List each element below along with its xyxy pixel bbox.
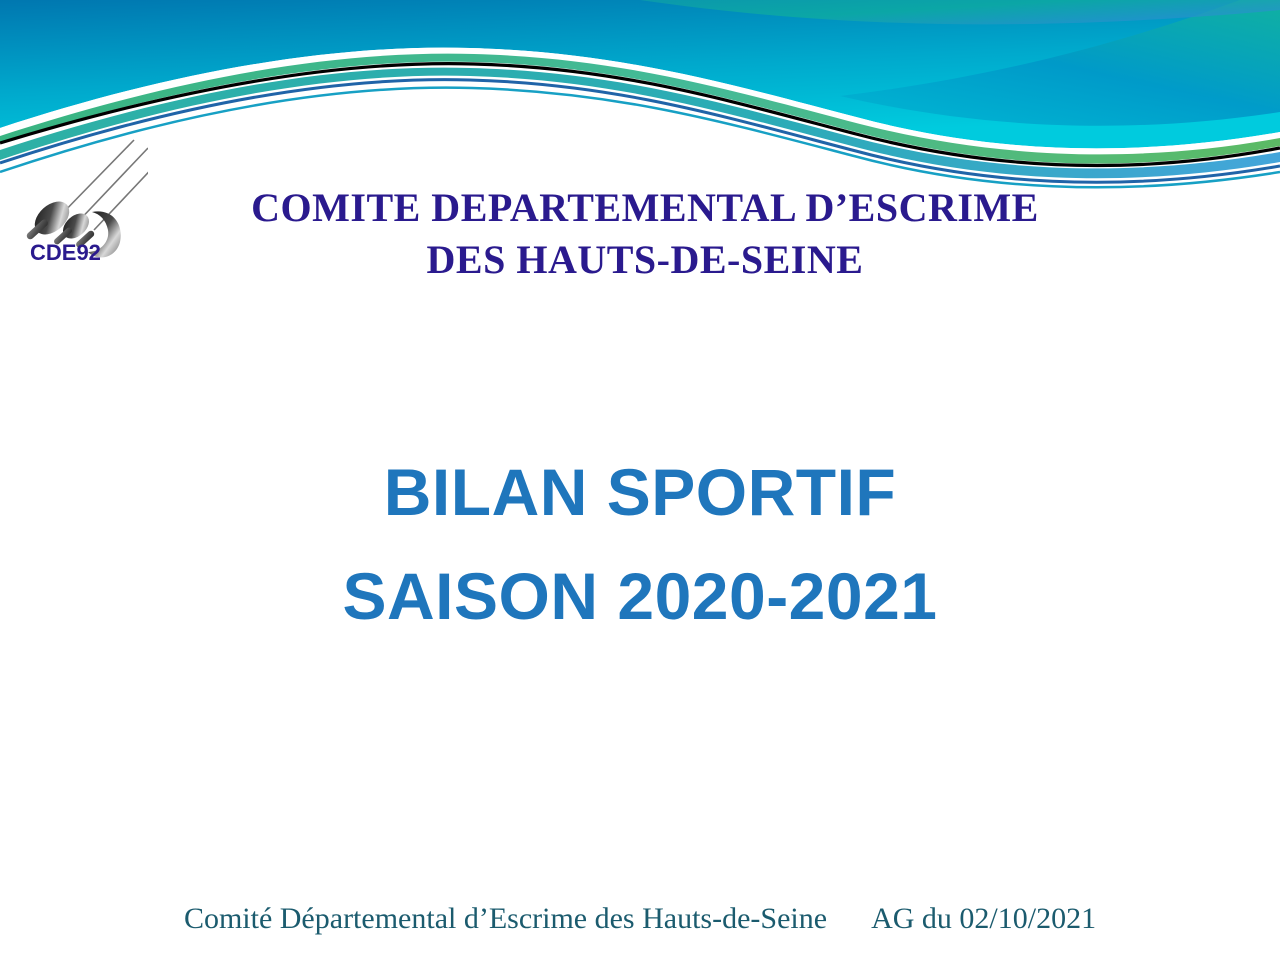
slide-footer: Comité Départemental d’Escrime des Hauts…: [0, 898, 1280, 940]
wave-teal-band: [0, 68, 1280, 179]
org-title-line-2: DES HAUTS-DE-SEINE: [150, 234, 1140, 286]
main-heading-block: BILAN SPORTIF SAISON 2020-2021: [0, 440, 1280, 648]
logo-wordmark: CDE92: [30, 240, 101, 265]
main-heading-bilan-sportif: BILAN SPORTIF: [0, 440, 1280, 544]
decorative-wave-banner: [0, 0, 1280, 200]
cde92-fencing-logo: CDE92: [8, 138, 148, 273]
main-heading-saison: SAISON 2020-2021: [0, 544, 1280, 648]
wave-main-shape: [0, 0, 1280, 148]
footer-organization: Comité Départemental d’Escrime des Hauts…: [184, 902, 827, 935]
wave-green-accent: [0, 54, 1280, 164]
footer-event: AG du 02/10/2021: [871, 902, 1096, 935]
wave-top-shape: [640, 0, 1280, 24]
wave-cyan-line: [0, 88, 1280, 188]
presentation-slide: CDE92 COMITE DEPARTEMENTAL D’ESCRIME DES…: [0, 0, 1280, 960]
wave-white-ribbon: [0, 48, 1280, 167]
org-title-line-1: COMITE DEPARTEMENTAL D’ESCRIME: [251, 185, 1039, 230]
page-title: COMITE DEPARTEMENTAL D’ESCRIME DES HAUTS…: [150, 182, 1140, 286]
wave-right-shape: [700, 0, 1280, 126]
wave-black-contour: [0, 64, 1280, 166]
wave-blue-line: [0, 80, 1280, 183]
